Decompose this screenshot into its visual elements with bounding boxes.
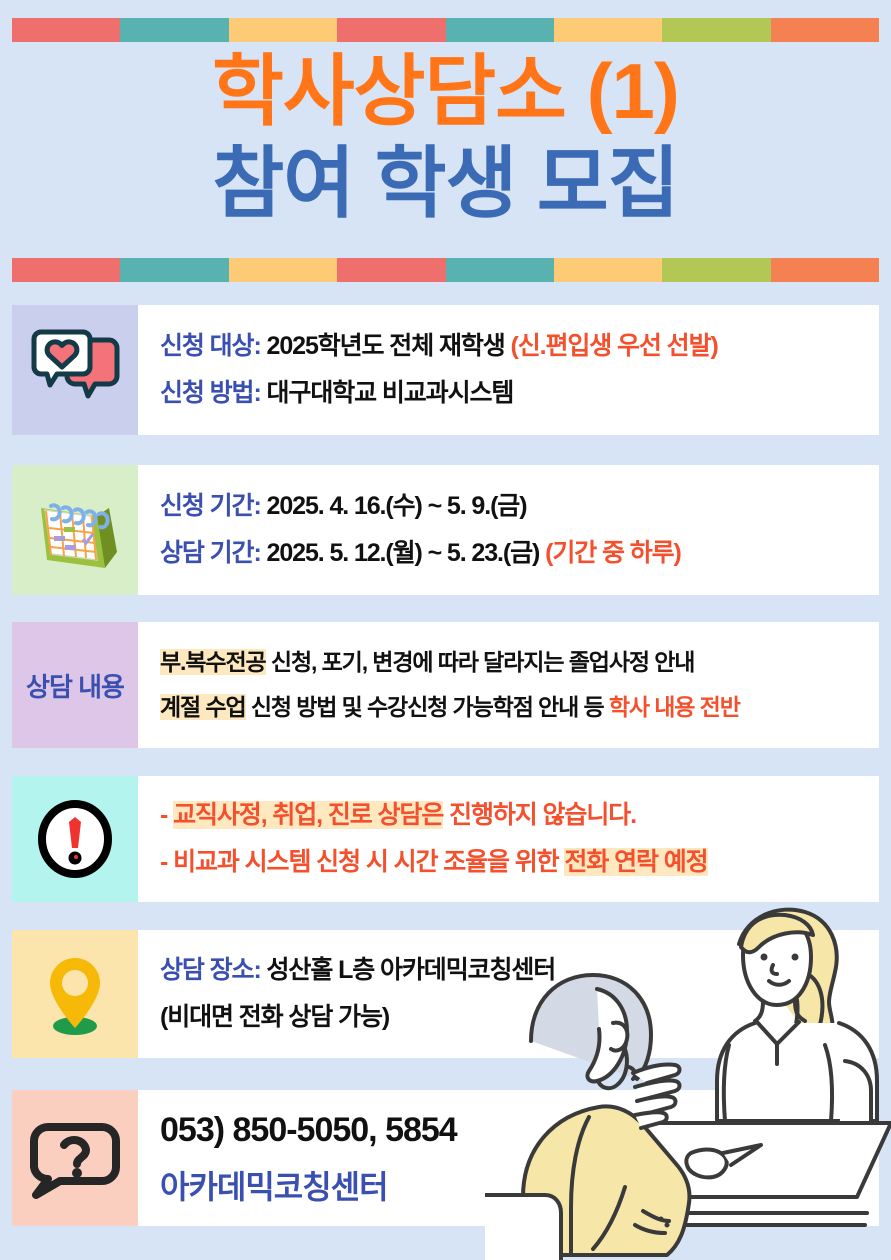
applicant-target-label: 신청 대상: [160, 332, 261, 360]
color-rule-segment-7 [771, 18, 879, 42]
info-row-period-body: 신청 기간: 2025. 4. 16.(수) ~ 5. 9.(금) 상담 기간:… [138, 465, 879, 595]
info-row-contact-body: 053) 850-5050, 5854 아카데믹코칭센터 [138, 1090, 879, 1226]
poster-canvas: 학사상담소 (1) 참여 학생 모집 신청 대상: 2025학년도 전체 재학생… [0, 0, 891, 1260]
info-row-content: 상담 내용 부.복수전공 신청, 포기, 변경에 따라 달라지는 졸업사정 안내… [12, 622, 879, 748]
applicant-target-value: 2025학년도 전체 재학생 [267, 332, 505, 360]
info-row-applicant: 신청 대상: 2025학년도 전체 재학생 (신.편입생 우선 선발) 신청 방… [12, 305, 879, 435]
info-row-notice: - 교직사정, 취업, 진로 상담은 진행하지 않습니다. - 비교과 시스템 … [12, 776, 879, 902]
place-note: (비대면 전화 상담 가능) [160, 1003, 389, 1031]
color-rule-bottom [12, 258, 879, 282]
color-rule-segment-0 [12, 258, 120, 282]
line-place-1: 상담 장소: 성산홀 L층 아카데믹코칭센터 [160, 955, 879, 986]
notice-1-highlight: 교직사정, 취업, 진로 상담은 [173, 801, 443, 829]
info-row-period: 신청 기간: 2025. 4. 16.(수) ~ 5. 9.(금) 상담 기간:… [12, 465, 879, 595]
color-rule-segment-0 [12, 18, 120, 42]
consult-period-note: (기간 중 하루) [545, 539, 681, 567]
content-2-rest: 신청 방법 및 수강신청 가능학점 안내 등 [246, 694, 609, 720]
poster-title: 학사상담소 (1) 참여 학생 모집 [0, 52, 891, 222]
content-1-highlight: 부.복수전공 [160, 649, 266, 675]
applicant-method-value: 대구대학교 비교과시스템 [267, 379, 514, 407]
apply-period-label: 신청 기간: [160, 492, 261, 520]
title-line-1: 학사상담소 (1) [0, 52, 891, 130]
color-rule-segment-3 [337, 18, 445, 42]
color-rule-segment-4 [446, 258, 554, 282]
line-place-2: (비대면 전화 상담 가능) [160, 1002, 879, 1033]
place-value: 성산홀 L층 아카데믹코칭센터 [267, 956, 556, 984]
notice-2-pre: 비교과 시스템 신청 시 시간 조율을 위한 [173, 848, 564, 876]
consult-period-label: 상담 기간: [160, 539, 261, 567]
color-rule-segment-1 [120, 18, 228, 42]
content-1-rest: 신청, 포기, 변경에 따라 달라지는 졸업사정 안내 [266, 649, 695, 675]
content-2-highlight: 계절 수업 [160, 694, 246, 720]
applicant-method-label: 신청 방법: [160, 379, 261, 407]
color-rule-segment-7 [771, 258, 879, 282]
question-bubble-icon [12, 1090, 138, 1226]
consult-period-value: 2025. 5. 12.(월) ~ 5. 23.(금) [267, 539, 540, 567]
info-row-contact: 053) 850-5050, 5854 아카데믹코칭센터 [12, 1090, 879, 1226]
color-rule-top [12, 18, 879, 42]
line-apply-period: 신청 기간: 2025. 4. 16.(수) ~ 5. 9.(금) [160, 491, 879, 522]
color-rule-segment-3 [337, 258, 445, 282]
color-rule-segment-2 [229, 258, 337, 282]
info-row-notice-body: - 교직사정, 취업, 진로 상담은 진행하지 않습니다. - 비교과 시스템 … [138, 776, 879, 902]
location-pin-icon [12, 930, 138, 1058]
color-rule-segment-4 [446, 18, 554, 42]
line-notice-1: - 교직사정, 취업, 진로 상담은 진행하지 않습니다. [160, 800, 879, 831]
apply-period-value: 2025. 4. 16.(수) ~ 5. 9.(금) [267, 492, 527, 520]
line-content-2: 계절 수업 신청 방법 및 수강신청 가능학점 안내 등 학사 내용 전반 [160, 693, 879, 722]
applicant-target-note: (신.편입생 우선 선발) [511, 332, 718, 360]
color-rule-segment-6 [662, 258, 770, 282]
color-rule-segment-5 [554, 258, 662, 282]
info-row-place: 상담 장소: 성산홀 L층 아카데믹코칭센터 (비대면 전화 상담 가능) [12, 930, 879, 1058]
content-2-note: 학사 내용 전반 [609, 694, 740, 720]
color-rule-segment-5 [554, 18, 662, 42]
line-notice-2: - 비교과 시스템 신청 시 시간 조율을 위한 전화 연락 예정 [160, 847, 879, 878]
info-row-content-body: 부.복수전공 신청, 포기, 변경에 따라 달라지는 졸업사정 안내 계절 수업… [138, 622, 879, 748]
title-line-2: 참여 학생 모집 [0, 144, 891, 222]
line-content-1: 부.복수전공 신청, 포기, 변경에 따라 달라지는 졸업사정 안내 [160, 648, 879, 677]
info-row-applicant-body: 신청 대상: 2025학년도 전체 재학생 (신.편입생 우선 선발) 신청 방… [138, 305, 879, 435]
info-row-place-body: 상담 장소: 성산홀 L층 아카데믹코칭센터 (비대면 전화 상담 가능) [138, 930, 879, 1058]
color-rule-segment-6 [662, 18, 770, 42]
color-rule-segment-1 [120, 258, 228, 282]
line-applicant-target: 신청 대상: 2025학년도 전체 재학생 (신.편입생 우선 선발) [160, 331, 879, 362]
color-rule-segment-2 [229, 18, 337, 42]
chat-heart-icon [12, 305, 138, 435]
consult-content-label: 상담 내용 [12, 622, 138, 748]
contact-center-name: 아카데믹코칭센터 [160, 1167, 879, 1207]
notice-1-rest: 진행하지 않습니다. [443, 801, 636, 829]
notice-2-highlight: 전화 연락 예정 [564, 848, 707, 876]
contact-phone: 053) 850-5050, 5854 [160, 1109, 879, 1152]
notice-1-dash: - [160, 801, 167, 829]
line-consult-period: 상담 기간: 2025. 5. 12.(월) ~ 5. 23.(금) (기간 중… [160, 538, 879, 569]
exclamation-circle-icon [12, 776, 138, 902]
notice-2-dash: - [160, 848, 167, 876]
line-applicant-method: 신청 방법: 대구대학교 비교과시스템 [160, 378, 879, 409]
calendar-icon [12, 465, 138, 595]
place-label: 상담 장소: [160, 956, 261, 984]
